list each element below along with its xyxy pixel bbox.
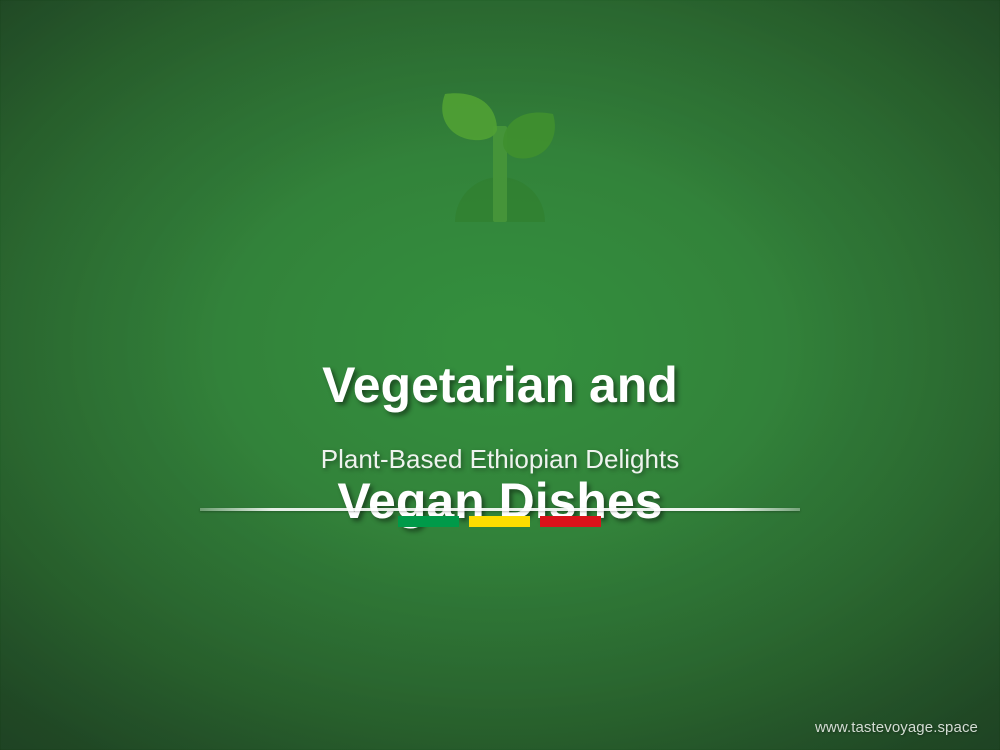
ethiopia-flag-bar-yellow <box>469 516 530 527</box>
accent-bar-group <box>398 516 602 527</box>
footer-website-url: www.tastevoyage.space <box>815 719 978 736</box>
page-subtitle: Plant-Based Ethiopian Delights <box>0 444 1000 475</box>
page-title: Vegetarian and Vegan Dishes <box>0 298 1000 588</box>
divider-line <box>200 508 800 511</box>
ethiopia-flag-bar-green <box>398 516 459 527</box>
title-line-1: Vegetarian and <box>0 356 1000 414</box>
sprout-seedling-icon <box>425 82 575 232</box>
ethiopia-flag-bar-red <box>540 516 601 527</box>
presentation-slide: Vegetarian and Vegan Dishes Plant-Based … <box>0 0 1000 750</box>
